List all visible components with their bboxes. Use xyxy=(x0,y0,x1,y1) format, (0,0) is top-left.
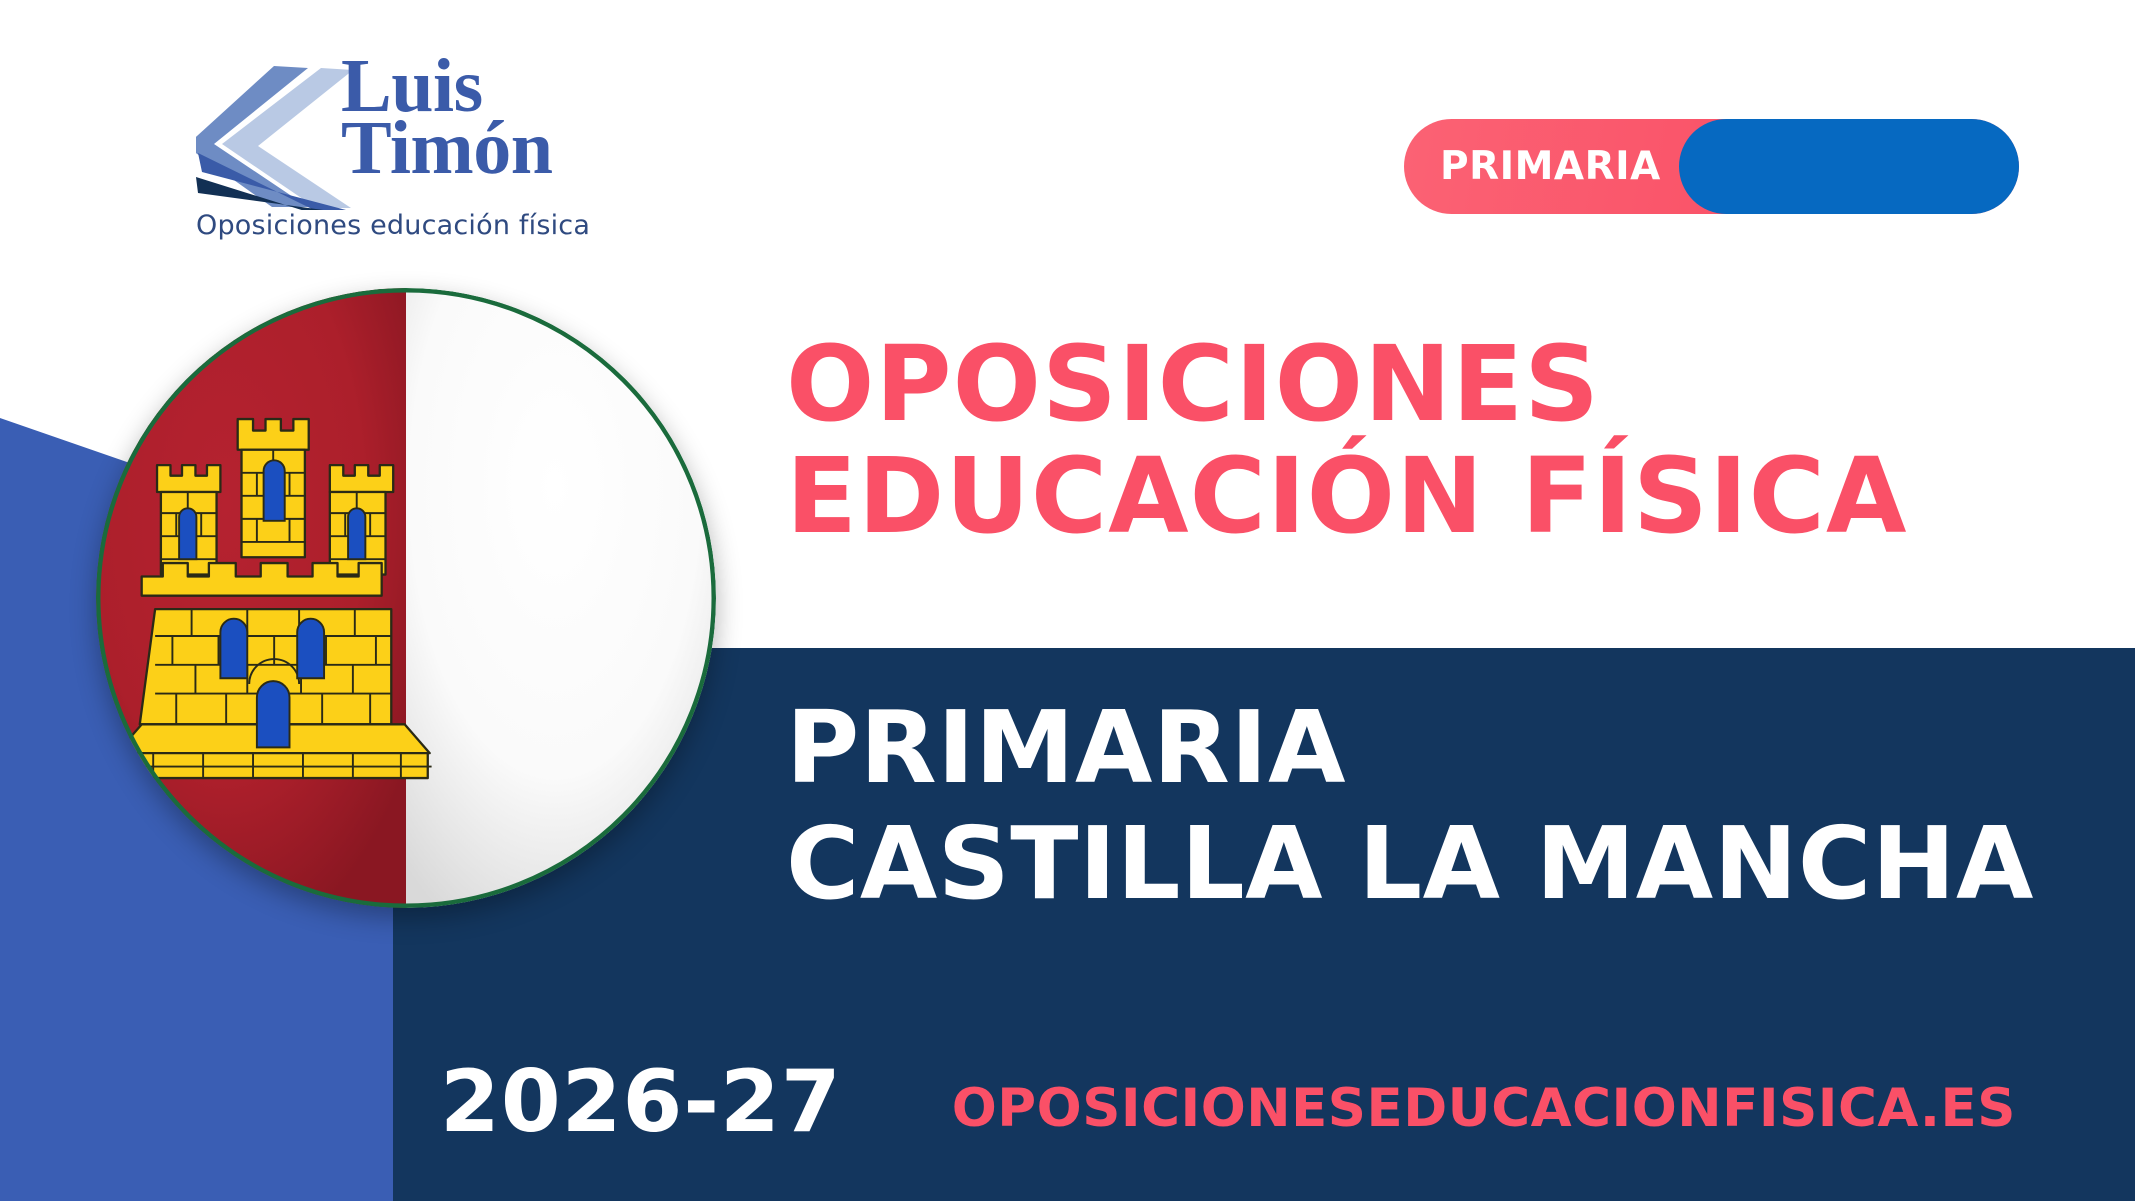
logo-tagline: Oposiciones educación física xyxy=(196,210,596,241)
open-book-icon xyxy=(196,60,356,210)
badge-blue-knob[interactable] xyxy=(1679,119,2019,214)
logo-wordmark: Luis Timón xyxy=(341,55,601,190)
castilla-la-mancha-flag-circle xyxy=(96,288,716,908)
footer-website[interactable]: OPOSICIONESEDUCACIONFISICA.ES xyxy=(952,1082,2016,1135)
brand-logo[interactable]: Luis Timón Oposiciones educación física xyxy=(196,55,596,245)
footer-row: 2026-27 OPOSICIONESEDUCACIONFISICA.ES xyxy=(440,1052,2040,1152)
subtitle-line-primaria: PRIMARIA xyxy=(786,690,2116,806)
badge-label: PRIMARIA xyxy=(1440,144,1661,189)
flag-roundel-svg xyxy=(96,288,716,908)
page-subtitle-white: PRIMARIA CASTILLA LA MANCHA xyxy=(786,690,2116,922)
page-title-pink: OPOSICIONES EDUCACIÓN FÍSICA xyxy=(786,328,2106,553)
footer-year: 2026-27 xyxy=(440,1059,842,1145)
title-line-oposiciones: OPOSICIONES xyxy=(786,328,2106,440)
primaria-badge[interactable]: PRIMARIA xyxy=(1404,119,2019,214)
poster-canvas: Luis Timón Oposiciones educación física … xyxy=(0,0,2135,1201)
logo-word-timon: Timón xyxy=(341,117,601,179)
subtitle-line-castilla-la-mancha: CASTILLA LA MANCHA xyxy=(786,806,2116,922)
title-line-educacion-fisica: EDUCACIÓN FÍSICA xyxy=(786,440,2106,552)
